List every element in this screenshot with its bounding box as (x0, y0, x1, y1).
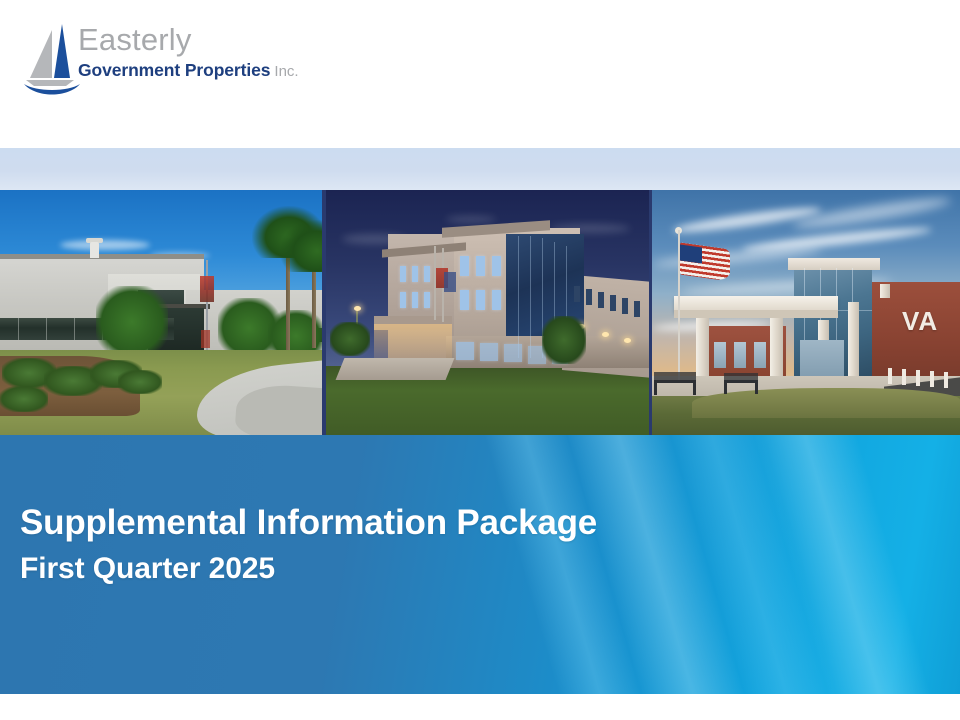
company-logo[interactable]: Easterly Government PropertiesInc. (22, 20, 282, 100)
logo-line-easterly: Easterly (78, 22, 288, 58)
logo-line-government: Government PropertiesInc. (78, 59, 288, 83)
photo-daytime-government-office (0, 190, 322, 435)
cover-slide: Easterly Government PropertiesInc. (0, 0, 960, 720)
photo-dusk-federal-office-building (326, 190, 649, 435)
american-flag-icon (680, 246, 730, 278)
logo-wordmark: Easterly Government PropertiesInc. (78, 22, 288, 83)
logo-government-properties-text: Government Properties (78, 60, 270, 80)
slide-header: Easterly Government PropertiesInc. (0, 0, 960, 148)
va-building-sign: VA (902, 308, 938, 334)
logo-inc-text: Inc. (274, 63, 298, 80)
divider-band (0, 148, 960, 190)
photo-strip: VA (0, 190, 960, 435)
footer-strip (0, 694, 960, 720)
page-subtitle: First Quarter 2025 (20, 551, 275, 587)
photo-va-medical-center: VA (652, 190, 960, 435)
page-title: Supplemental Information Package (20, 503, 597, 543)
sailboat-icon (22, 20, 84, 100)
